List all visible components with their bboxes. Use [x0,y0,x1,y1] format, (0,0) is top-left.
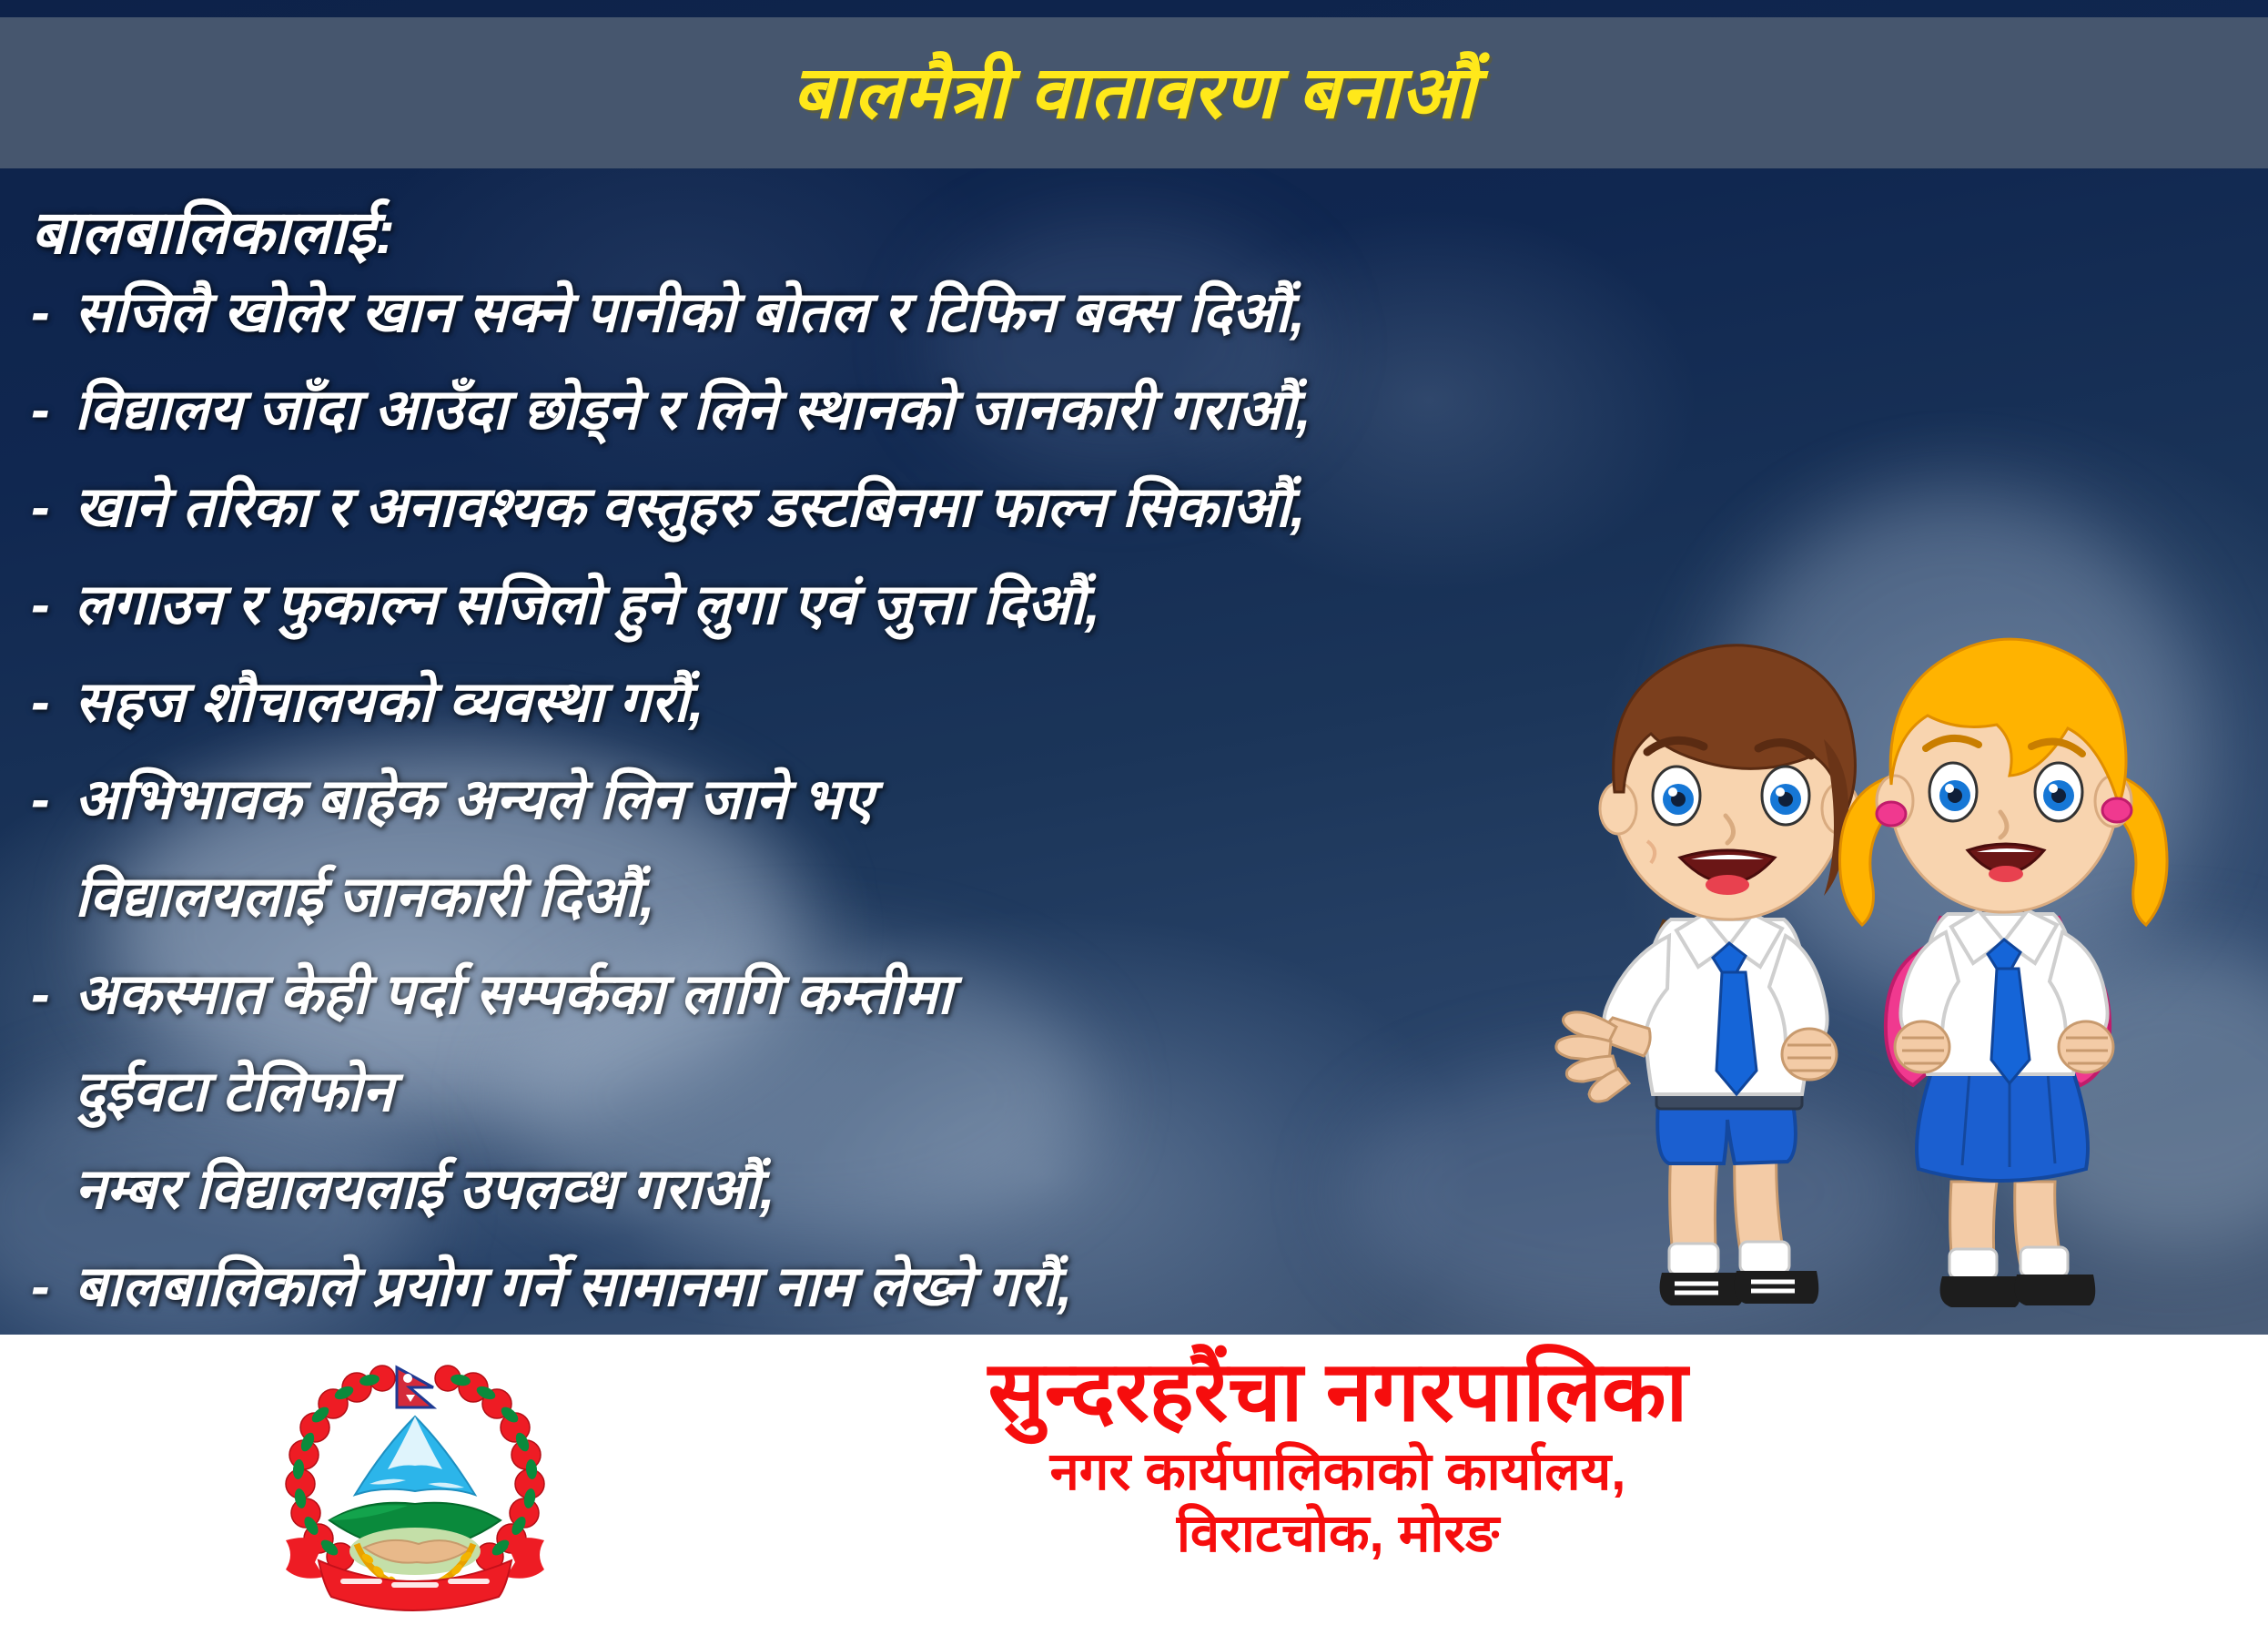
list-item-text: सहज शौचालयको व्यवस्था गरौं, [75,673,1633,732]
list-item: - अकस्मात केही पर्दा सम्पर्कका लागि कम्त… [31,965,1633,1052]
list-item: - अभिभावक बाहेक अन्यले लिन जाने भए [31,770,1633,858]
bullet-dash-icon: - [31,965,75,1024]
list-item: - सजिलै खोलेर खान सक्ने पानीको बोतल र टि… [31,283,1633,371]
list-item: - विद्यालय जाँदा आउँदा छोड्ने र लिने स्थ… [31,381,1633,468]
list-item: - सहज शौचालयको व्यवस्था गरौं, [31,673,1633,760]
bullet-dash-icon: - [31,478,75,537]
bullet-dash-icon: - [31,1257,75,1316]
list-item-continuation: - दुईवटा टेलिफोन [31,1062,1633,1150]
poster-title: बालमैत्री वातावरण बनाऔं [793,56,1476,129]
list-item: - लगाउन र फुकाल्न सजिलो हुने लुगा एवं जु… [31,575,1633,663]
bullet-dash-icon: - [31,283,75,342]
organization-name: सुन्दरहरैंचा नगरपालिका [692,1347,1984,1437]
list-item-text: नम्बर विद्यालयलाई उपलव्ध गराऔं, [75,1160,1633,1219]
list-item-text: अभिभावक बाहेक अन्यले लिन जाने भए [75,770,1633,829]
bullet-dash-icon: - [31,575,75,635]
body-text-block: बालबालिकालाई: - सजिलै खोलेर खान सक्ने पा… [31,202,1633,1355]
nepal-flag-icon [397,1367,433,1407]
list-item-continuation: - विद्यालयलाई जानकारी दिऔं, [31,868,1633,955]
bullet-dash-icon: - [31,673,75,732]
bullet-dash-icon: - [31,770,75,829]
list-item-text: दुईवटा टेलिफोन [75,1062,1633,1122]
header-band: बालमैत्री वातावरण बनाऔं [0,17,2268,168]
list-item: - खाने तरिका र अनावश्यक वस्तुहरु डस्टबिन… [31,478,1633,565]
list-item-text: अकस्मात केही पर्दा सम्पर्कका लागि कम्तीम… [75,965,1633,1024]
list-item-text: बालबालिकाले प्रयोग गर्ने सामानमा नाम लेख… [75,1257,1633,1316]
nepal-government-emblem-icon [273,1351,557,1617]
schoolchildren-illustration [1453,557,2253,1335]
footer-bar: सुन्दरहरैंचा नगरपालिका नगर कार्यपालिकाको… [0,1335,2268,1625]
list-item-text: सजिलै खोलेर खान सक्ने पानीको बोतल र टिफि… [75,283,1633,342]
organization-info: सुन्दरहरैंचा नगरपालिका नगर कार्यपालिकाको… [692,1347,1984,1564]
intro-heading: बालबालिकालाई: [31,202,1633,263]
list-item: - बालबालिकाले प्रयोग गर्ने सामानमा नाम ल… [31,1257,1633,1345]
organization-address-line: विराटचोक, मोरङ [692,1503,1984,1564]
poster-canvas: बालमैत्री वातावरण बनाऔं बालबालिकालाई: - … [0,0,2268,1625]
girl-figure [1840,639,2168,1307]
list-item-text: विद्यालयलाई जानकारी दिऔं, [75,868,1633,927]
organization-office-line: नगर कार्यपालिकाको कार्यालय, [692,1441,1984,1502]
boy-figure [1556,645,1858,1305]
bullet-dash-icon: - [31,381,75,440]
list-item-text: लगाउन र फुकाल्न सजिलो हुने लुगा एवं जुत्… [75,575,1633,635]
list-item-text: खाने तरिका र अनावश्यक वस्तुहरु डस्टबिनमा… [75,478,1633,537]
list-item-text: विद्यालय जाँदा आउँदा छोड्ने र लिने स्थान… [75,381,1633,440]
list-item-continuation: - नम्बर विद्यालयलाई उपलव्ध गराऔं, [31,1160,1633,1247]
